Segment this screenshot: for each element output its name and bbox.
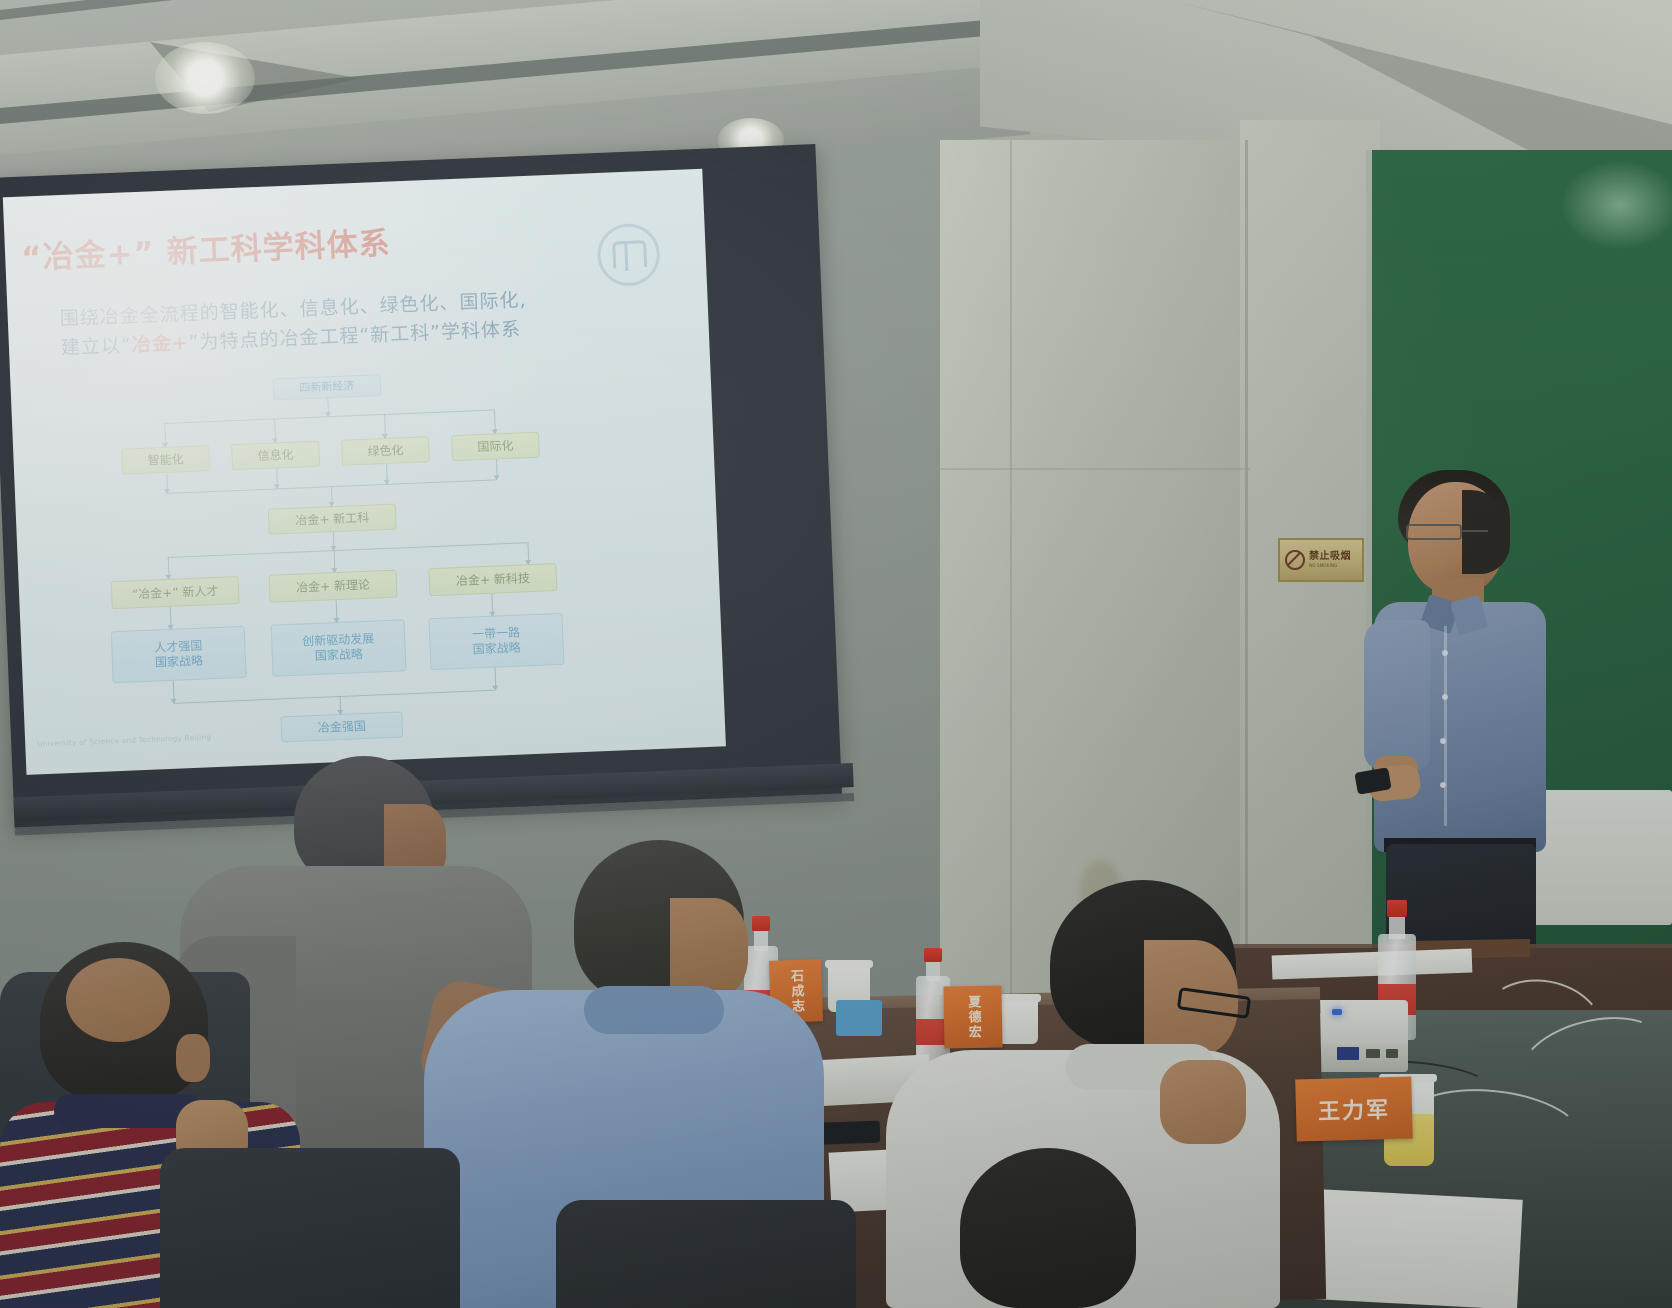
- glasses-icon: [1406, 524, 1462, 540]
- audience-head: [960, 1148, 1136, 1308]
- bottle-neck: [1389, 914, 1404, 939]
- presenter-sleeve: [1364, 620, 1430, 770]
- flow-connector: [168, 542, 528, 558]
- chair: [556, 1200, 856, 1308]
- projector-status-led: [1332, 1009, 1342, 1015]
- pillar-seam: [940, 468, 1250, 470]
- ceiling-downlight-icon: [155, 42, 255, 114]
- flow-arrow: [168, 557, 170, 579]
- no-smoking-icon: [1285, 550, 1305, 570]
- slide-subtitle-line-2-pre: 建立以“: [61, 335, 133, 360]
- chair: [160, 1148, 460, 1308]
- university-emblem-icon: [596, 223, 660, 287]
- presenter-shirt-placket: [1444, 626, 1447, 826]
- flow-arrow: [327, 398, 329, 416]
- flow-connector: [174, 690, 496, 704]
- bottle-cap: [1387, 900, 1407, 917]
- slide-title: “冶金+” 新工科学科体系: [20, 208, 621, 278]
- projector-vga-port: [1337, 1047, 1359, 1060]
- projection-screen: “冶金+” 新工科学科体系 围绕冶金全流程的智能化、信息化、绿色化、国际化, 建…: [0, 144, 855, 858]
- flow-arrow: [331, 486, 333, 506]
- flow-node-row5-0: 人才强国 国家战略: [111, 626, 247, 683]
- flow-arrow: [170, 607, 172, 629]
- flow-node-row4-2: 冶金+ 新科技: [428, 563, 557, 596]
- flow-arrow: [496, 459, 498, 479]
- flow-node-row4-1: 冶金+ 新理论: [269, 570, 398, 603]
- no-smoking-label-en: NO SMOKING: [1309, 564, 1351, 568]
- audience-hand: [1160, 1060, 1246, 1144]
- flow-arrow: [274, 418, 276, 442]
- flow-node-row5-2: 一带一路 国家战略: [428, 613, 564, 670]
- chalkboard-glare: [1560, 160, 1672, 250]
- table-item-paper: [1297, 1188, 1522, 1308]
- shirt-button: [1442, 694, 1448, 700]
- flow-node-row2-1: 信息化: [231, 441, 320, 471]
- conference-room-photo: 禁止吸烟 NO SMOKING “冶金+” 新工科学科体系 围绕冶金全流程的智能…: [0, 0, 1672, 1308]
- slide-subtitle: 围绕冶金全流程的智能化、信息化、绿色化、国际化, 建立以“冶金+”为特点的冶金工…: [59, 280, 681, 364]
- flow-node-row2-3: 国际化: [451, 432, 540, 462]
- flow-arrow: [340, 696, 342, 714]
- name-placard: 王力军: [1295, 1076, 1413, 1141]
- no-smoking-label-cn: 禁止吸烟: [1309, 552, 1351, 562]
- flow-arrow: [276, 468, 278, 488]
- flow-arrow: [334, 550, 336, 572]
- flow-arrow: [166, 473, 168, 493]
- shirt-button: [1442, 650, 1448, 656]
- audience-collar: [584, 986, 724, 1034]
- flow-arrow: [495, 668, 497, 690]
- audience-partial: [930, 1148, 1190, 1308]
- flow-arrow: [333, 532, 335, 550]
- flow-arrow: [164, 423, 166, 447]
- flow-arrow: [527, 542, 529, 564]
- audience-ear: [176, 1034, 210, 1082]
- audience-scalp: [66, 958, 170, 1042]
- flow-arrow: [386, 464, 388, 484]
- no-smoking-text: 禁止吸烟 NO SMOKING: [1309, 552, 1351, 568]
- flow-arrow: [384, 414, 386, 438]
- slide-subtitle-highlight: 冶金+: [131, 332, 189, 356]
- flow-arrow: [173, 681, 175, 703]
- audience-face: [670, 898, 748, 998]
- flow-node-row2-2: 绿色化: [341, 436, 430, 466]
- flow-node-row4-0: “冶金+” 新人才: [111, 576, 240, 609]
- flow-arrow: [494, 409, 496, 433]
- projector-port: [1366, 1049, 1380, 1058]
- shirt-button: [1440, 782, 1446, 788]
- slide-flow-diagram: 四新新经济 智能化 信息化 绿色化 国际化 冶金+ 新工科: [11, 361, 725, 749]
- flow-arrow: [336, 600, 338, 622]
- slide-surface: “冶金+” 新工科学科体系 围绕冶金全流程的智能化、信息化、绿色化、国际化, 建…: [3, 169, 726, 775]
- flow-node-row2-0: 智能化: [121, 445, 210, 475]
- shirt-button: [1440, 738, 1446, 744]
- flow-node-row3: 冶金+ 新工科: [268, 504, 397, 535]
- flow-node-top: 四新新经济: [272, 374, 381, 400]
- projector-port: [1386, 1049, 1398, 1058]
- flow-node-row5-1: 创新驱动发展 国家战略: [271, 619, 407, 676]
- flow-arrow: [491, 594, 493, 616]
